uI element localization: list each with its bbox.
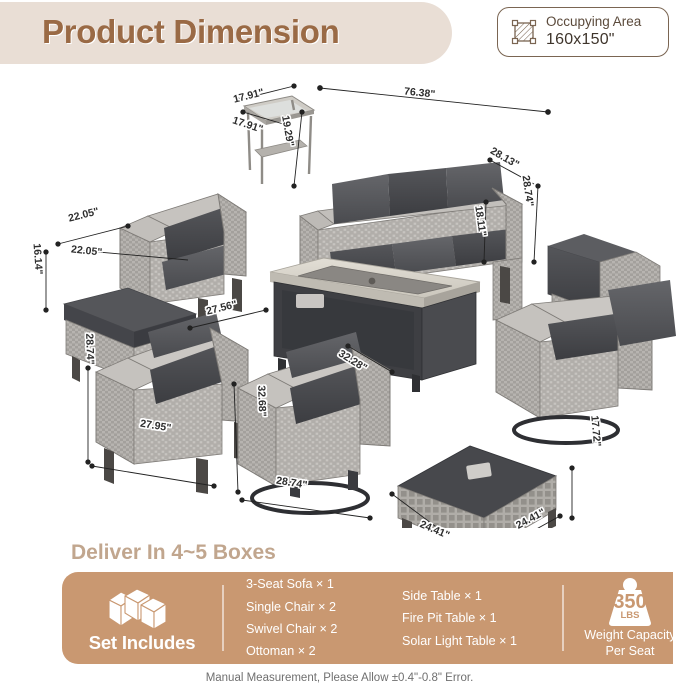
weight-caption-2: Per Seat <box>605 644 654 659</box>
list-item: Fire Pit Table × 1 <box>402 608 562 628</box>
weight-caption-1: Weight Capacity <box>584 628 675 643</box>
furniture-svg <box>0 66 679 528</box>
set-includes-label: Set Includes <box>89 632 196 654</box>
weight-capacity-block: 350 LBS Weight Capacity Per Seat <box>564 577 679 660</box>
list-item: Swivel Chair × 2 <box>246 619 386 639</box>
list-item: Single Chair × 2 <box>246 597 386 617</box>
swivel-chair-right-figure <box>496 234 676 443</box>
page-title: Product Dimension <box>42 13 339 51</box>
deliver-title: Deliver In 4~5 Boxes <box>71 541 276 565</box>
measurement-footnote: Manual Measurement, Please Allow ±0.4"-0… <box>0 672 679 684</box>
weight-unit: LBS <box>599 610 661 621</box>
occupying-area-label: Occupying Area <box>546 14 641 30</box>
set-includes-brand: Set Includes <box>62 583 222 654</box>
items-column-right: Side Table × 1 Fire Pit Table × 1 Solar … <box>402 574 562 662</box>
occupying-area-value: 160x150" <box>546 30 641 50</box>
dim-swivel-chair-side: 32.68" <box>255 385 268 417</box>
dim-ottoman-height: 16.14" <box>31 243 45 275</box>
items-column-left: 3-Seat Sofa × 1 Single Chair × 2 Swivel … <box>246 574 386 662</box>
swivel-chair-bottom-figure <box>238 332 390 513</box>
dim-single-chair-height: 28.74" <box>83 333 96 365</box>
list-item: Solar Light Table × 1 <box>402 631 562 651</box>
furniture-layout-illustration <box>0 66 679 528</box>
occupying-area-text: Occupying Area 160x150" <box>546 14 641 50</box>
set-includes-panel: Set Includes 3-Seat Sofa × 1 Single Chai… <box>62 572 673 664</box>
boxes-icon <box>105 586 179 630</box>
list-item: Ottoman × 2 <box>246 641 386 661</box>
side-table-figure <box>244 96 314 184</box>
weight-badge: 350 LBS <box>599 577 661 627</box>
list-item: Side Table × 1 <box>402 586 562 606</box>
occupying-area-icon <box>511 19 537 45</box>
occupying-area-badge: Occupying Area 160x150" <box>497 7 669 57</box>
list-item: 3-Seat Sofa × 1 <box>246 574 386 594</box>
header: Product Dimension Occupying Area 160x150… <box>0 0 679 66</box>
set-includes-items: 3-Seat Sofa × 1 Single Chair × 2 Swivel … <box>224 574 562 662</box>
